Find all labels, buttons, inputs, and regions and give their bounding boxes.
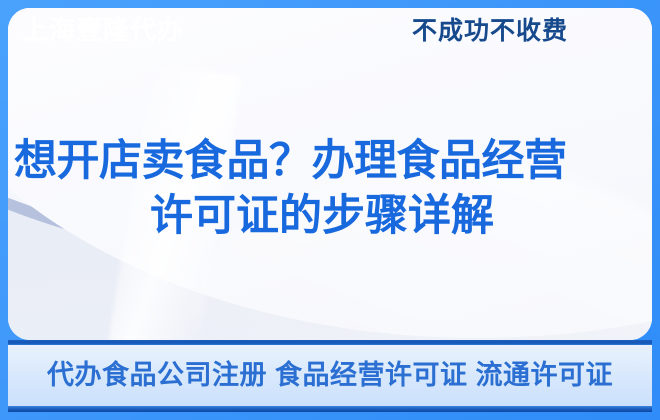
promo-banner: 上海壹隆代办 不成功不收费 想开店卖食品？办理食品经营 许可证的步骤详解 代办食…	[0, 0, 660, 420]
keyword-strip-body: 代办食品公司注册 食品经营许可证 流通许可证	[8, 345, 652, 406]
keyword-strip: 代办食品公司注册 食品经营许可证 流通许可证	[8, 340, 652, 412]
keyword-strip-bottom-rule	[8, 406, 652, 412]
headline: 想开店卖食品？办理食品经营 许可证的步骤详解	[0, 134, 644, 244]
headline-line-2: 许可证的步骤详解	[0, 189, 644, 244]
headline-line-1: 想开店卖食品？办理食品经营	[0, 134, 644, 189]
slogan-text: 不成功不收费	[390, 18, 590, 46]
brand-name: 上海壹隆代办	[22, 17, 184, 43]
keyword-strip-text: 代办食品公司注册 食品经营许可证 流通许可证	[47, 362, 613, 389]
